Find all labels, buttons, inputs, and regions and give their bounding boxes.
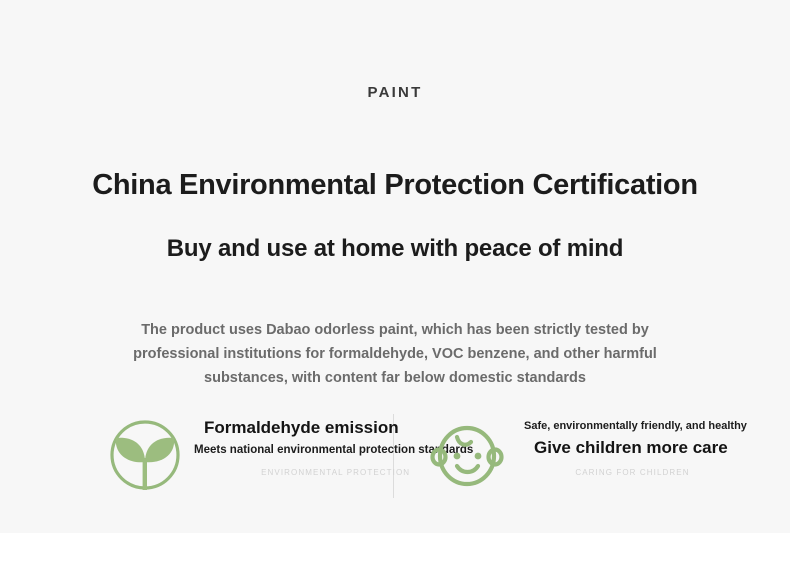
feature-list: Formaldehyde emission Meets national env…	[0, 412, 790, 512]
baby-face-icon	[426, 412, 508, 494]
feature-heading: Give children more care	[516, 436, 747, 460]
promo-poster: PAINT China Environmental Protection Cer…	[0, 0, 790, 533]
page-subtitle: Buy and use at home with peace of mind	[0, 235, 790, 263]
feature-caption: CARING FOR CHILDREN	[516, 460, 747, 482]
description-paragraph: The product uses Dabao odorless paint, w…	[100, 318, 690, 390]
feature-item-environmental: Formaldehyde emission Meets national env…	[104, 412, 394, 494]
bottom-white-band	[0, 533, 790, 572]
sprout-leaf-icon	[104, 412, 186, 494]
feature-item-children: Safe, environmentally friendly, and heal…	[426, 412, 716, 494]
page-title: China Environmental Protection Certifica…	[0, 169, 790, 202]
feature-text-group: Safe, environmentally friendly, and heal…	[508, 412, 747, 482]
feature-subtext: Safe, environmentally friendly, and heal…	[516, 416, 747, 436]
eyebrow-label: PAINT	[0, 84, 790, 101]
